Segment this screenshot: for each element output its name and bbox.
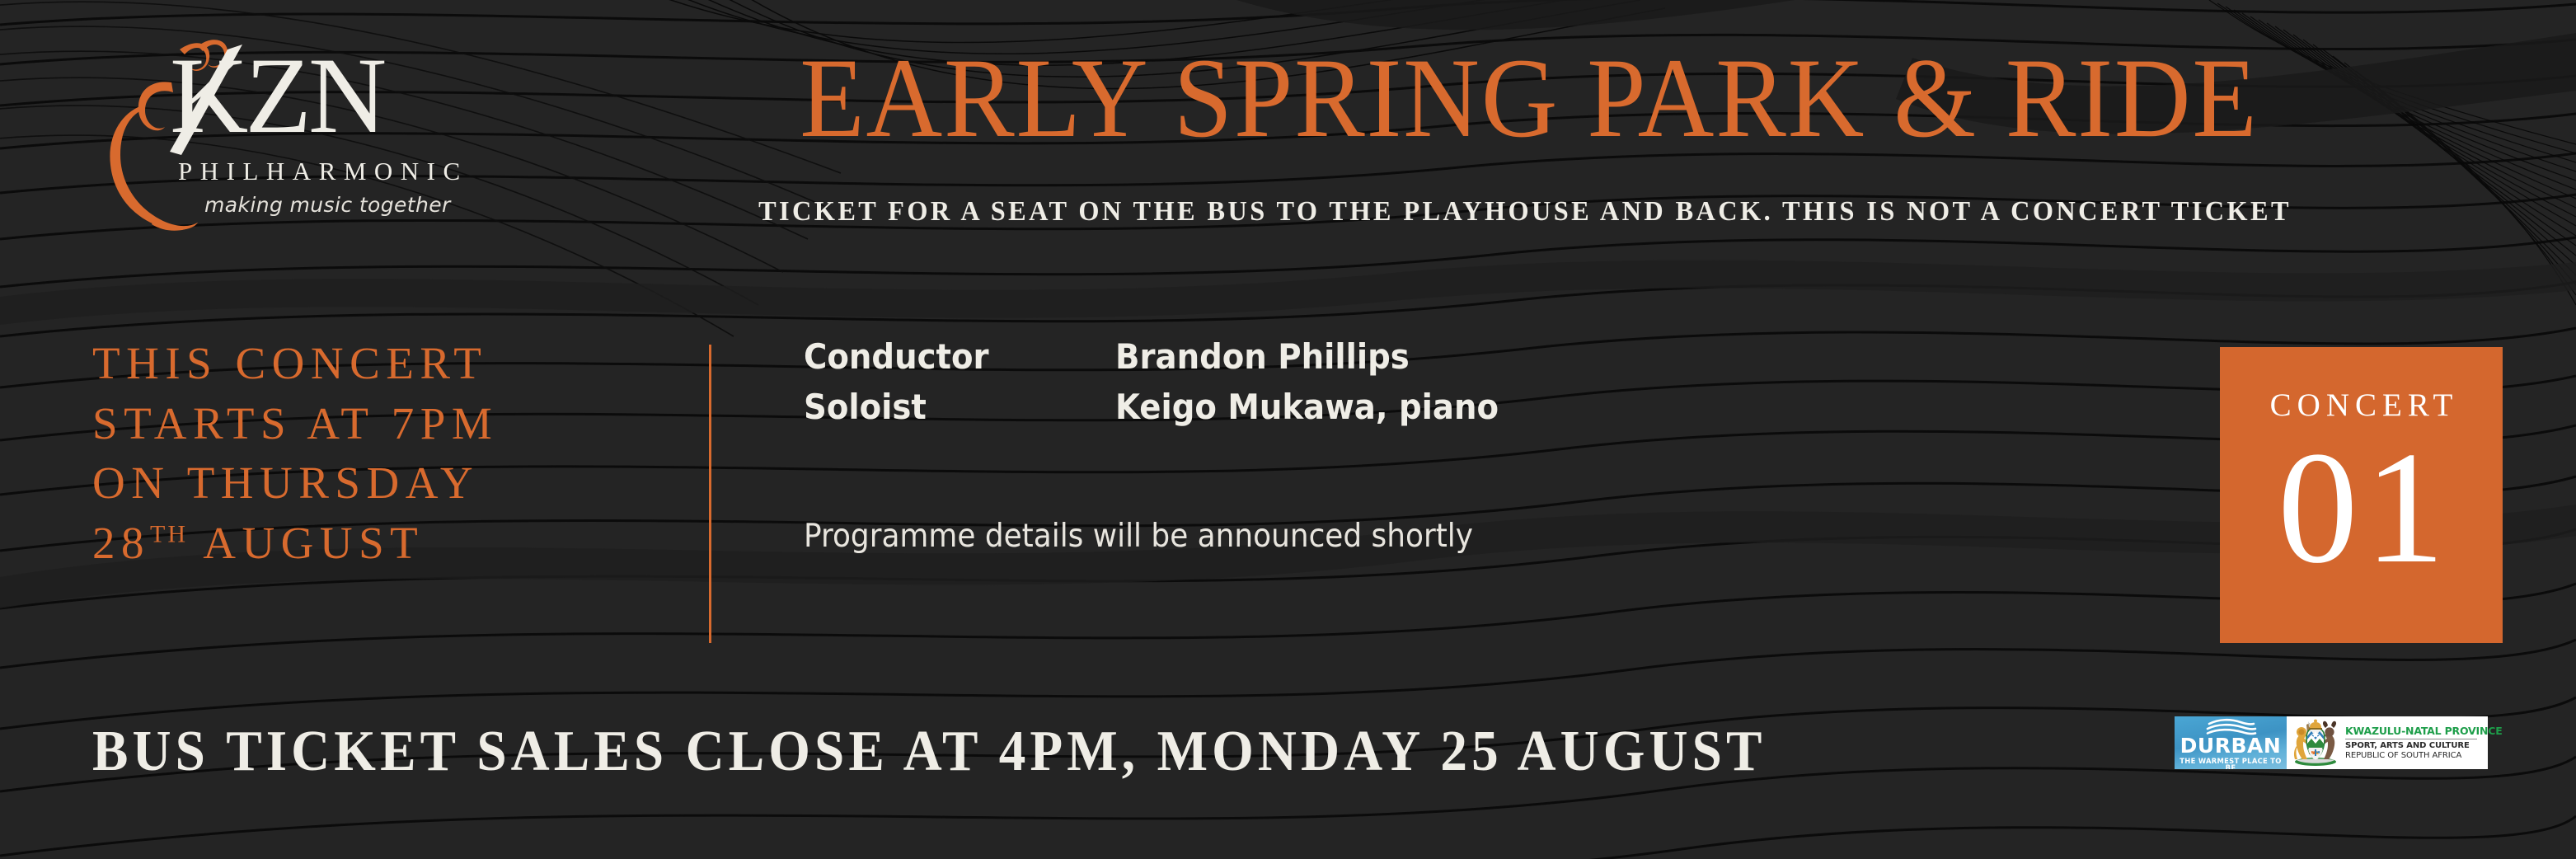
concert-datetime-block: THIS CONCERT STARTS AT 7PM ON THURSDAY 2… — [92, 334, 498, 573]
detail-row-conductor: Conductor Brandon Phillips — [804, 336, 1532, 377]
vertical-divider — [709, 345, 711, 643]
logo-org-name: PHILHARMONIC — [178, 157, 468, 186]
date-ordinal-suffix: TH — [150, 520, 188, 547]
date-day-number: 28 — [92, 518, 150, 568]
durban-name: DURBAN — [2175, 735, 2287, 756]
kzn-philharmonic-logo: KZN PHILHARMONIC making music together — [73, 31, 435, 254]
page-subtitle: TICKET FOR A SEAT ON THE BUS TO THE PLAY… — [547, 196, 2504, 228]
date-month: AUGUST — [203, 518, 424, 568]
kzn-government-logo: KWAZULU-NATAL PROVINCE SPORT, ARTS AND C… — [2287, 716, 2488, 769]
logo-wordmark: KZN — [170, 41, 383, 150]
soloist-name: Keigo Mukawa, piano — [1115, 387, 1499, 427]
government-text-block: KWAZULU-NATAL PROVINCE SPORT, ARTS AND C… — [2345, 725, 2503, 759]
conductor-label: Conductor — [804, 336, 1091, 377]
durban-slogan: THE WARMEST PLACE TO BE — [2175, 758, 2287, 769]
soloist-label: Soloist — [804, 387, 1091, 427]
durban-logo: DURBAN THE WARMEST PLACE TO BE — [2175, 716, 2287, 769]
detail-row-soloist: Soloist Keigo Mukawa, piano — [804, 387, 1532, 427]
datetime-line-4: 28TH AUGUST — [92, 514, 498, 574]
datetime-line-3: ON THURSDAY — [92, 453, 498, 514]
page-title: EARLY SPRING PARK & RIDE — [598, 41, 2461, 155]
programme-note: Programme details will be announced shor… — [804, 518, 1473, 555]
sponsor-logos: DURBAN THE WARMEST PLACE TO BE — [2175, 716, 2488, 769]
datetime-line-1: THIS CONCERT — [92, 334, 498, 394]
government-title: KWAZULU-NATAL PROVINCE — [2345, 725, 2503, 737]
conductor-name: Brandon Phillips — [1115, 336, 1410, 377]
logo-tagline: making music together — [204, 193, 451, 217]
government-department: SPORT, ARTS AND CULTURE — [2345, 741, 2503, 750]
datetime-line-2: STARTS AT 7PM — [92, 394, 498, 454]
coat-of-arms-icon — [2290, 718, 2341, 767]
performer-details: Conductor Brandon Phillips Soloist Keigo… — [804, 336, 1532, 437]
divider-rule — [2345, 739, 2477, 739]
concert-number-badge: CONCERT 01 — [2220, 347, 2503, 643]
government-country: REPUBLIC OF SOUTH AFRICA — [2345, 751, 2503, 760]
promotional-banner: KZN PHILHARMONIC making music together E… — [0, 0, 2576, 859]
badge-number: 01 — [2220, 428, 2503, 589]
ticket-sales-notice: BUS TICKET SALES CLOSE AT 4PM, MONDAY 25… — [92, 719, 1767, 785]
